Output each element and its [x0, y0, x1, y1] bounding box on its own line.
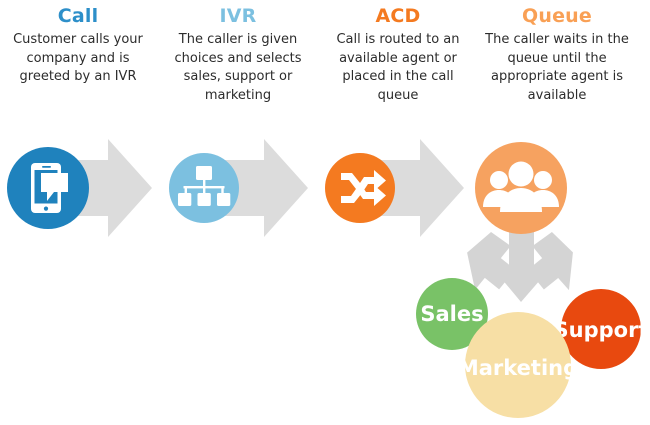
step-title-ivr: IVR	[160, 4, 316, 28]
step-column-call: Call Customer calls your company and is …	[0, 4, 156, 87]
stage-circle-ivr[interactable]	[169, 153, 239, 223]
destination-label-sales: Sales	[420, 302, 483, 326]
step-title-call: Call	[0, 4, 156, 28]
stage-circle-acd[interactable]	[325, 153, 395, 223]
diagram-canvas: Sales Support Marketing Call Customer ca…	[0, 0, 650, 425]
step-column-acd: ACD Call is routed to an available agent…	[320, 4, 476, 105]
step-description-queue: The caller waits in the queue until the …	[472, 31, 642, 105]
step-title-queue: Queue	[472, 4, 642, 28]
stage-circle-queue[interactable]	[475, 142, 567, 234]
step-description-acd: Call is routed to an available agent or …	[320, 31, 476, 105]
step-description-call: Customer calls your company and is greet…	[0, 31, 156, 87]
step-description-ivr: The caller is given choices and selects …	[160, 31, 316, 105]
destination-label-marketing: Marketing	[458, 356, 578, 380]
step-title-acd: ACD	[320, 4, 476, 28]
step-column-queue: Queue The caller waits in the queue unti…	[472, 4, 642, 105]
stage-circle-call[interactable]	[7, 147, 89, 229]
step-column-ivr: IVR The caller is given choices and sele…	[160, 4, 316, 105]
destination-label-support: Support	[554, 318, 649, 342]
